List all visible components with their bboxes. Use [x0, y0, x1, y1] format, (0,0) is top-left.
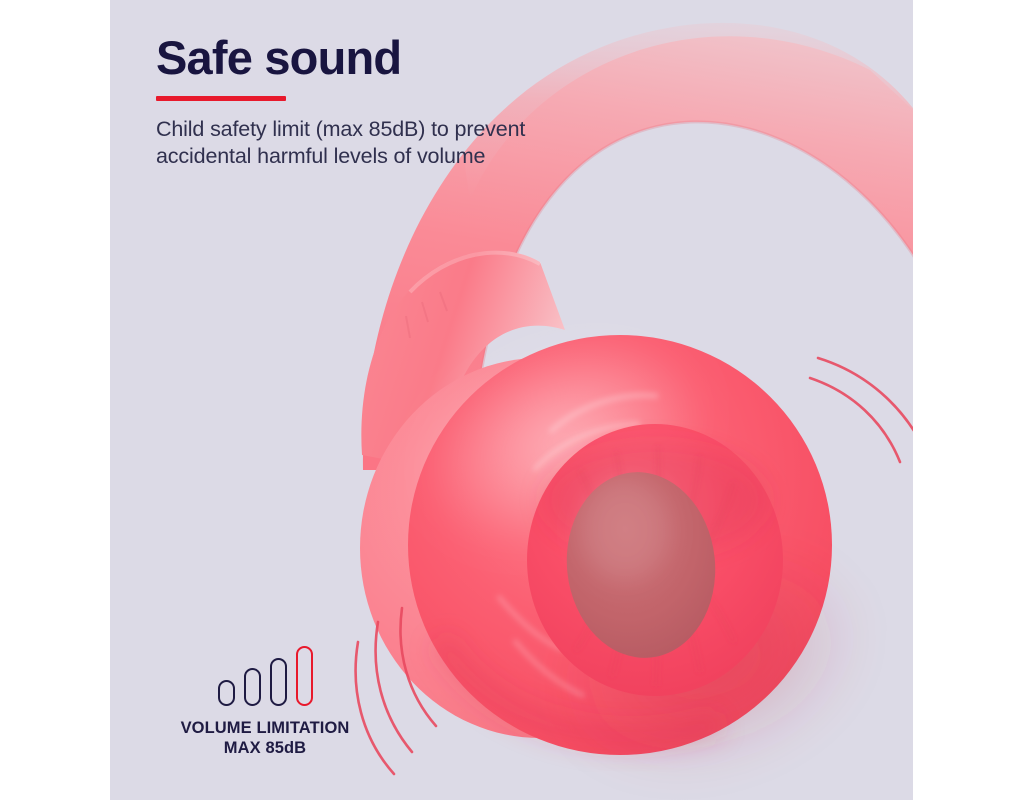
subcopy-line-1: Child safety limit (max 85dB) to prevent: [156, 116, 676, 143]
volume-level-bars-icon: [150, 646, 380, 706]
badge-caption-line-1: VOLUME LIMITATION: [150, 719, 380, 738]
headline-accent-rule: [156, 96, 286, 101]
soundwave-arcs-upper: [810, 358, 913, 462]
copy-block: Safe sound Child safety limit (max 85dB)…: [156, 33, 676, 192]
volume-limitation-badge: VOLUME LIMITATION MAX 85dB: [150, 646, 380, 758]
page-title: Safe sound: [156, 33, 676, 82]
badge-caption: VOLUME LIMITATION MAX 85dB: [150, 719, 380, 758]
bar-level-3-icon: [270, 658, 287, 706]
subcopy-line-2: accidental harmful levels of volume: [156, 143, 676, 170]
scene-panel: Safe sound Child safety limit (max 85dB)…: [110, 0, 913, 800]
bar-level-2-icon: [244, 668, 261, 706]
bar-level-4-icon: [296, 646, 313, 706]
bar-level-1-icon: [218, 680, 235, 706]
subcopy: Child safety limit (max 85dB) to prevent…: [156, 116, 676, 170]
badge-caption-line-2: MAX 85dB: [150, 739, 380, 758]
product-feature-card: Safe sound Child safety limit (max 85dB)…: [0, 0, 1024, 800]
